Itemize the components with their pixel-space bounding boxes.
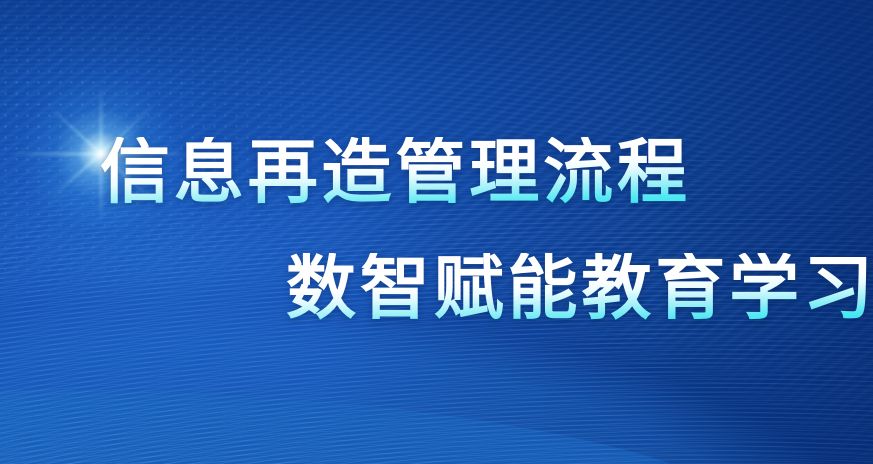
- headline-line-2: 数智赋能教育学习: [286, 253, 873, 323]
- headline-line-1: 信息再造管理流程: [100, 137, 691, 207]
- promotional-banner: 信息再造管理流程 数智赋能教育学习: [0, 0, 873, 464]
